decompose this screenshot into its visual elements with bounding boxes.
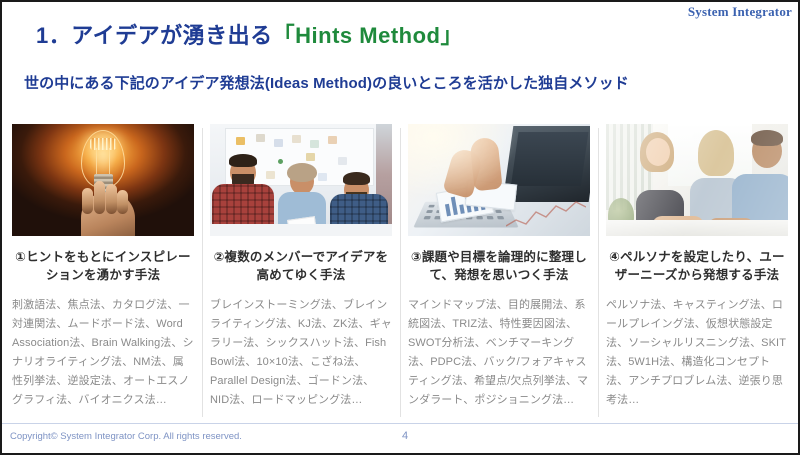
subtitle: 世の中にある下記のアイデア発想法(Ideas Method)の良いところを活かし… (24, 72, 629, 93)
hand-holding-lightbulb-photo (12, 124, 194, 236)
team-brainstorming-whiteboard-photo (210, 124, 392, 236)
method-card-list: ①ヒントをもとにインスピレーションを湧かす手法 刺激語法、焦点法、カタログ法、一… (4, 124, 796, 421)
method-card-heading: ④ペルソナを設定したり、ユーザーニーズから発想する手法 (606, 248, 788, 284)
copyright-text: Copyright© System Integrator Corp. All r… (10, 431, 242, 442)
method-card: ②複数のメンバーでアイデアを高めてゆく手法 ブレインストーミング法、ブレインライ… (202, 124, 400, 421)
method-card-heading: ①ヒントをもとにインスピレーションを湧かす手法 (12, 248, 194, 284)
method-card-body: マインドマップ法、目的展開法、系統図法、TRIZ法、特性要因図法、SWOT分析法… (408, 296, 590, 409)
method-card-body: ブレインストーミング法、ブレインライティング法、KJ法、ZK法、ギャラリー法、シ… (210, 296, 392, 409)
method-card-heading: ②複数のメンバーでアイデアを高めてゆく手法 (210, 248, 392, 284)
trend-line-graphic (506, 198, 586, 232)
method-card-body: ペルソナ法、キャスティング法、ロールプレイング法、仮想状態設定法、ソーシャルリス… (606, 296, 788, 409)
hands-analyzing-charts-laptop-photo (408, 124, 590, 236)
slide-footer: Copyright© System Integrator Corp. All r… (2, 423, 798, 453)
page-title: 1．アイデアが湧き出る「Hints Method」 (36, 18, 463, 50)
method-card: ①ヒントをもとにインスピレーションを湧かす手法 刺激語法、焦点法、カタログ法、一… (4, 124, 202, 421)
method-card-heading: ③課題や目標を論理的に整理して、発想を思いつく手法 (408, 248, 590, 284)
method-card: ③課題や目標を論理的に整理して、発想を思いつく手法 マインドマップ法、目的展開法… (400, 124, 598, 421)
meeting-discussion-bright-room-photo (606, 124, 788, 236)
method-card-body: 刺激語法、焦点法、カタログ法、一対連関法、ムードボード法、Word Associ… (12, 296, 194, 409)
page-title-main: 1．アイデアが湧き出る (36, 23, 273, 48)
page-title-highlight: 「Hints Method」 (273, 23, 463, 48)
brand-label: System Integrator (688, 4, 792, 20)
method-card: ④ペルソナを設定したり、ユーザーニーズから発想する手法 ペルソナ法、キャスティン… (598, 124, 796, 421)
presentation-slide: System Integrator 1．アイデアが湧き出る「Hints Meth… (0, 0, 800, 455)
page-number: 4 (402, 430, 408, 442)
